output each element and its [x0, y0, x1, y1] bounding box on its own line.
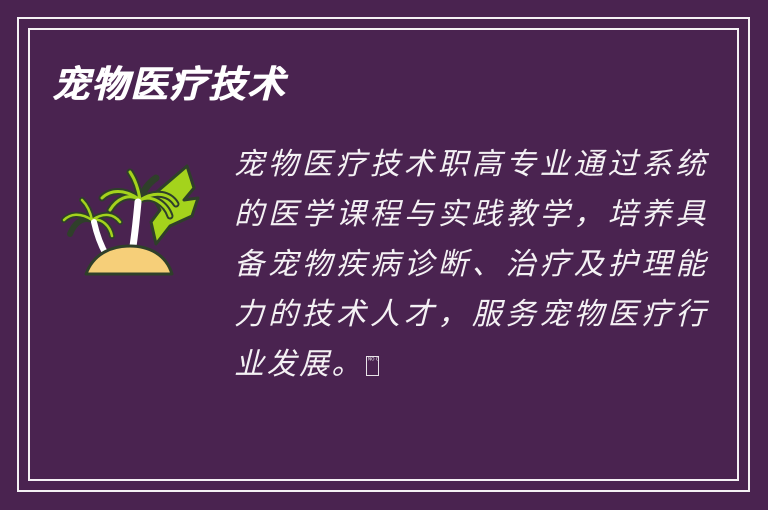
page-title: 宠物医疗技术: [52, 62, 286, 108]
body-paragraph-text: 宠物医疗技术职高专业通过系统的医学课程与实践教学，培养具备宠物疾病诊断、治疗及护…: [234, 147, 708, 382]
poster-canvas: 宠物医疗技术: [0, 0, 768, 510]
content-row: 宠物医疗技术职高专业通过系统的医学课程与实践教学，培养具备宠物疾病诊断、治疗及护…: [52, 140, 708, 390]
palm-tree-island-icon: [52, 148, 212, 288]
missing-glyph-label: NO GLYPH: [368, 358, 379, 362]
missing-glyph-box: NO GLYPH: [366, 356, 379, 376]
body-paragraph: 宠物医疗技术职高专业通过系统的医学课程与实践教学，培养具备宠物疾病诊断、治疗及护…: [234, 140, 708, 390]
